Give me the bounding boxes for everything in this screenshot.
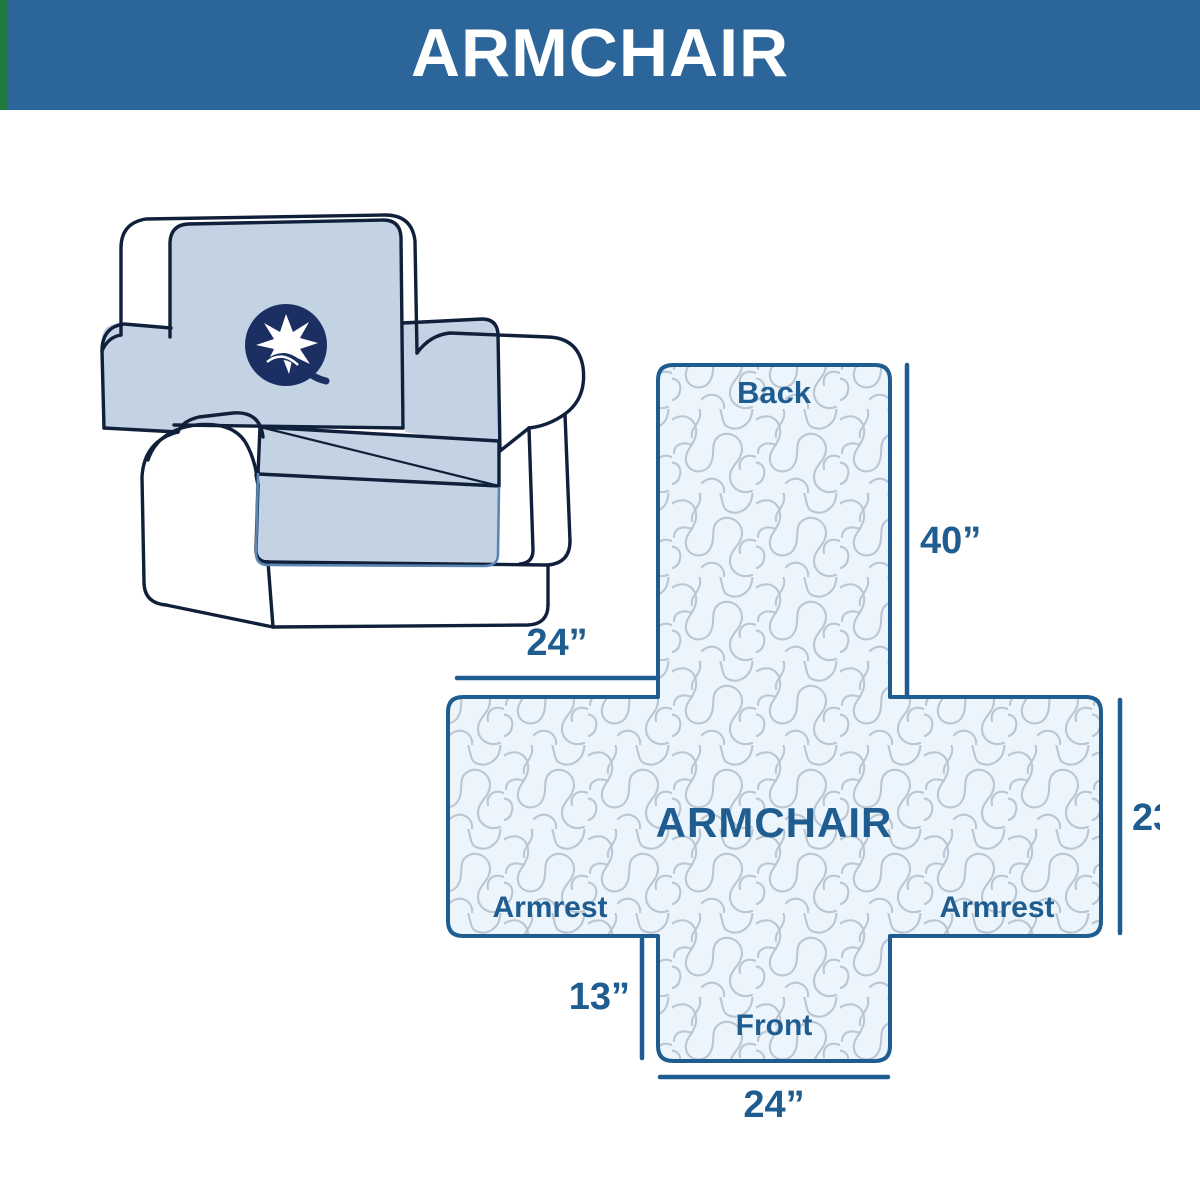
cover-outline [448,365,1101,1061]
base-left-bottom [166,605,273,627]
cover-cross-shape [448,365,1101,1061]
page-title: ARMCHAIR [411,19,789,87]
cover-layout-svg: Back ARMCHAIR Armrest Armrest Front 40” … [420,325,1160,1165]
dimension-value-24-top: 24” [526,622,587,664]
dimension-back-width: 24” [457,622,656,678]
cover-layout-diagram: Back ARMCHAIR Armrest Armrest Front 40” … [420,325,1160,1165]
panel-label-back: Back [737,375,812,410]
dimension-front-height: 13” [569,939,642,1058]
left-arm-roll-contour [148,424,258,485]
base-left-front-edge [268,562,273,627]
dimension-body-height: 23” [1120,700,1160,933]
seat-left-edge [258,427,260,474]
panel-label-front: Front [736,1009,813,1042]
dimension-value-13: 13” [569,976,630,1018]
panel-label-armrest-right: Armrest [939,891,1054,924]
dimension-value-40: 40” [920,520,981,562]
dimension-value-24-bottom: 24” [743,1084,804,1126]
page-header-banner: ARMCHAIR [0,0,1200,110]
content-area: Back ARMCHAIR Armrest Armrest Front 40” … [0,110,1200,1200]
panel-label-armrest-left: Armrest [492,891,607,924]
product-dimension-page: ARMCHAIR [0,0,1200,1200]
dimension-back-height: 40” [907,365,981,697]
diagram-center-label: ARMCHAIR [656,799,893,846]
dimension-front-width: 24” [660,1077,888,1126]
dimension-value-23: 23” [1132,797,1160,839]
q-starburst-logo [245,304,327,386]
header-accent-stripe [0,0,7,110]
